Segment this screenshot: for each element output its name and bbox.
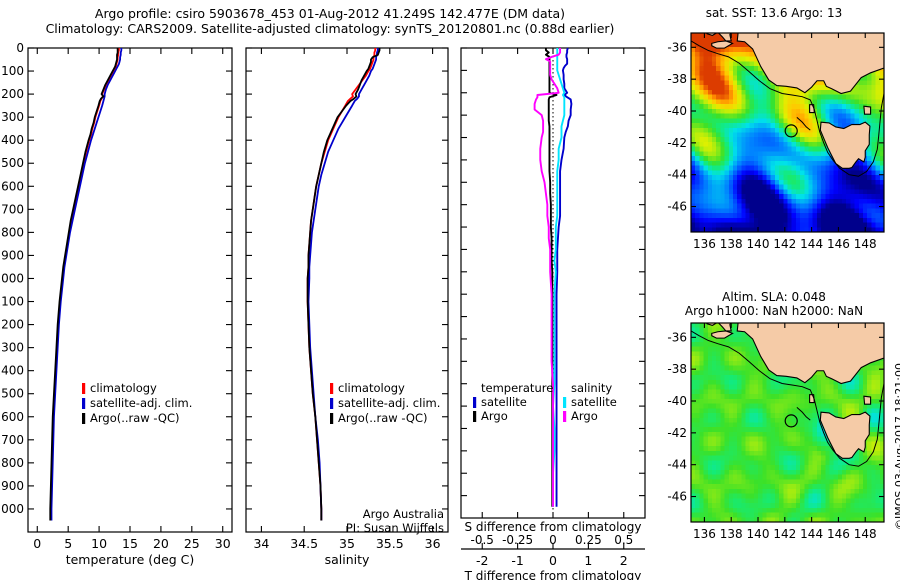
map-cell [746,156,751,161]
map-cell [767,90,772,95]
map-cell [800,470,805,475]
map-cell [850,99,855,104]
map-cell [758,494,763,499]
map-cell [813,213,818,218]
map-cell [767,413,772,418]
map-cell [779,95,784,100]
map-cell [754,475,759,480]
map-cell [704,446,709,451]
map-cell [846,104,851,109]
map-cell [741,208,746,213]
map-cell [834,118,839,123]
map-cell [850,479,855,484]
map-cell [771,194,776,199]
map-cell [842,479,847,484]
map-cell [737,380,742,385]
map-cell [712,147,717,152]
map-cell [821,394,826,399]
x-axis-label: salinity [325,552,370,567]
map-cell [871,427,876,432]
map-cell [729,389,734,394]
map-cell [863,498,868,503]
map-cell [691,351,696,356]
y-tick-label: 900 [1,248,24,262]
map-cell [754,80,759,85]
map-cell [737,66,742,71]
map-cell [863,95,868,100]
map-cell [737,389,742,394]
map-cell [720,370,725,375]
map-cell [746,437,751,442]
map-cell [695,71,700,76]
map-cell [808,161,813,166]
map-cell [838,213,843,218]
map-cell [741,451,746,456]
map-cell [704,332,709,337]
map-cell [771,470,776,475]
map-cell [792,503,797,508]
map-cell [829,199,834,204]
map-cell [825,489,830,494]
map-cell [779,418,784,423]
map-cell [855,394,860,399]
map-cell [855,489,860,494]
map-cell [813,385,818,390]
map-cell [767,151,772,156]
map-cell [796,489,801,494]
map-cell [871,76,876,81]
y-tick-label: 600 [1,179,24,193]
map-cell [704,194,709,199]
map-cell [859,114,864,119]
map-cell [750,413,755,418]
map-cell [817,223,822,228]
map-cell [712,118,717,123]
map-cell [775,446,780,451]
map-cell [762,441,767,446]
salinity-panel: 3434.53535.536salinityclimatologysatelli… [240,40,455,580]
y-tick-label: 800 [1,225,24,239]
map-cell [720,460,725,465]
map-cell [779,185,784,190]
map-cell [750,95,755,100]
map-cell [838,475,843,480]
map-cell [737,423,742,428]
map-cell [855,223,860,228]
map-cell [779,175,784,180]
map-cell [704,427,709,432]
map-cell [771,446,776,451]
t-tick-label: 0 [549,553,557,568]
map-cell [834,218,839,223]
map-cell [850,408,855,413]
map-cell [771,156,776,161]
map-cell [758,147,763,152]
map-cell [771,503,776,508]
map-cell [720,351,725,356]
map-cell [829,118,834,123]
map-cell [691,95,696,100]
difference-panel: temperaturesatelliteArgosalinitysatellit… [455,40,660,580]
map-cell [741,475,746,480]
map-cell [708,342,713,347]
map-cell [855,460,860,465]
map-cell [720,90,725,95]
map-cell [691,441,696,446]
map-cell [691,423,696,428]
map-cell [720,489,725,494]
t-axis-label: T difference from climatology [464,569,642,580]
map-cell [708,508,713,513]
map-cell [863,489,868,494]
map-cell [767,427,772,432]
map-cell [733,427,738,432]
map-cell [733,475,738,480]
map-cell [746,479,751,484]
map-cell [859,199,864,204]
map-cell [737,223,742,228]
map-cell [771,161,776,166]
map-cell [750,104,755,109]
map-cell [691,223,696,228]
map-cell [762,437,767,442]
map-cell [695,175,700,180]
map-cell [737,95,742,100]
map-cell [699,356,704,361]
map-cell [712,80,717,85]
map-cell [741,170,746,175]
map-cell [783,460,788,465]
map-cell [821,484,826,489]
map-cell [708,223,713,228]
map-cell [741,484,746,489]
map-cell [867,375,872,380]
map-cell [716,142,721,147]
map-cell [725,451,730,456]
map-cell [704,66,709,71]
map-cell [750,432,755,437]
map-cell [758,508,763,513]
map-cell [712,427,717,432]
map-cell [704,42,709,47]
map-cell [725,109,730,114]
map-cell [691,147,696,152]
map-cell [767,223,772,228]
map-cell [758,156,763,161]
map-cell [699,432,704,437]
map-cell [712,432,717,437]
map-cell [867,408,872,413]
map-cell [792,128,797,133]
map-cell [813,147,818,152]
map-cell [788,194,793,199]
map-cell [863,475,868,480]
map-cell [825,218,830,223]
map-cell [775,218,780,223]
map-cell [829,99,834,104]
map-cell [783,503,788,508]
map-cell [804,470,809,475]
map-cell [871,489,876,494]
map-cell [800,204,805,209]
map-cell [716,347,721,352]
map-cell [741,57,746,62]
map-cell [733,137,738,142]
map-cell [792,380,797,385]
map-cell [850,399,855,404]
map-cell [855,508,860,513]
map-cell [737,175,742,180]
map-cell [758,380,763,385]
map-cell [733,33,738,38]
map-cell [712,189,717,194]
map-cell [729,147,734,152]
lat-tick-label: -36 [667,330,687,344]
sst-map-title: sat. SST: 13.6 Argo: 13 [660,6,888,20]
map-cell [762,498,767,503]
map-cell [695,456,700,461]
map-cell [720,180,725,185]
map-cell [788,156,793,161]
map-cell [704,399,709,404]
map-cell [796,151,801,156]
map-cell [746,137,751,142]
map-cell [750,194,755,199]
map-cell [716,180,721,185]
map-cell [720,451,725,456]
map-cell [817,446,822,451]
map-cell [741,175,746,180]
map-cell [842,489,847,494]
map-cell [800,399,805,404]
map-cell [842,218,847,223]
map-cell [708,114,713,119]
map-cell [821,508,826,513]
map-cell [741,42,746,47]
map-cell [737,489,742,494]
map-cell [792,484,797,489]
map-cell [804,104,809,109]
map-cell [733,95,738,100]
map-cell [804,175,809,180]
map-cell [704,351,709,356]
map-cell [767,470,772,475]
map-cell [796,513,801,518]
map-cell [699,404,704,409]
map-cell [699,456,704,461]
map-cell [737,441,742,446]
map-cell [775,451,780,456]
map-cell [859,189,864,194]
map-cell [846,498,851,503]
map-cell [871,218,876,223]
map-cell [771,456,776,461]
map-cell [729,385,734,390]
map-cell [792,498,797,503]
map-cell [758,194,763,199]
map-cell [754,375,759,380]
map-cell [796,446,801,451]
map-cell [691,470,696,475]
map-cell [846,385,851,390]
map-cell [842,213,847,218]
map-cell [863,375,868,380]
map-cell [813,456,818,461]
map-cell [720,456,725,461]
map-cell [720,175,725,180]
lat-tick-label: -44 [667,458,687,472]
map-cell [808,137,813,142]
t-tick-label: -2 [476,553,488,568]
map-cell [754,460,759,465]
map-cell [716,494,721,499]
map-cell [783,194,788,199]
map-cell [779,218,784,223]
map-cell [741,332,746,337]
lat-tick-label: -40 [667,394,687,408]
map-cell [695,85,700,90]
map-cell [695,475,700,480]
map-cell [691,189,696,194]
map-cell [716,194,721,199]
map-cell [691,375,696,380]
map-cell [855,99,860,104]
map-cell [758,133,763,138]
map-cell [855,90,860,95]
map-cell [699,104,704,109]
map-cell [813,95,818,100]
map-cell [737,408,742,413]
map-cell [859,375,864,380]
map-cell [767,489,772,494]
map-cell [779,385,784,390]
map-cell [779,427,784,432]
map-cell [808,142,813,147]
map-cell [800,465,805,470]
map-cell [737,460,742,465]
map-cell [729,85,734,90]
map-cell [855,375,860,380]
map-cell [817,180,822,185]
map-cell [855,470,860,475]
map-cell [746,76,751,81]
map-cell [821,451,826,456]
legend-group-label: temperature [481,381,553,395]
map-cell [762,147,767,152]
map-cell [750,114,755,119]
map-cell [829,451,834,456]
map-cell [758,418,763,423]
map-cell [829,204,834,209]
map-cell [720,475,725,480]
map-cell [767,479,772,484]
map-cell [746,475,751,480]
map-cell [750,475,755,480]
map-cell [754,394,759,399]
map-cell [771,451,776,456]
map-cell [746,85,751,90]
map-cell [788,147,793,152]
map-cell [804,118,809,123]
map-cell [758,385,763,390]
map-cell [712,142,717,147]
map-cell [817,175,822,180]
map-cell [762,170,767,175]
map-cell [712,356,717,361]
map-cell [863,508,868,513]
map-cell [876,114,881,119]
map-cell [817,151,822,156]
map-cell [767,423,772,428]
map-cell [829,380,834,385]
map-cell [699,109,704,114]
map-cell [729,161,734,166]
map-cell [750,498,755,503]
map-cell [729,175,734,180]
map-cell [737,470,742,475]
map-cell [779,208,784,213]
map-cell [800,170,805,175]
map-cell [838,208,843,213]
map-cell [746,503,751,508]
map-cell [804,151,809,156]
map-cell [746,494,751,499]
map-cell [729,166,734,171]
map-cell [733,109,738,114]
map-cell [699,128,704,133]
map-cell [813,128,818,133]
map-cell [720,399,725,404]
map-cell [846,479,851,484]
map-cell [783,408,788,413]
map-cell [695,508,700,513]
map-cell [695,99,700,104]
map-cell [783,199,788,204]
map-cell [859,513,864,518]
map-cell [779,223,784,228]
map-cell [720,479,725,484]
map-cell [775,170,780,175]
map-cell [871,204,876,209]
map-cell [699,114,704,119]
map-cell [754,465,759,470]
map-cell [708,199,713,204]
map-cell [725,76,730,81]
map-cell [846,204,851,209]
map-cell [863,494,868,499]
map-cell [720,385,725,390]
map-cell [720,208,725,213]
map-cell [708,71,713,76]
map-cell [699,427,704,432]
map-cell [716,361,721,366]
map-cell [796,451,801,456]
map-cell [725,385,730,390]
map-cell [712,109,717,114]
map-cell [762,204,767,209]
x-tick-label: 30 [215,536,231,551]
map-cell [825,185,830,190]
map-cell [750,66,755,71]
map-cell [859,95,864,100]
map-cell [737,394,742,399]
map-cell [817,498,822,503]
map-cell [716,147,721,152]
map-cell [729,61,734,66]
map-cell [813,513,818,518]
map-cell [691,218,696,223]
map-cell [779,489,784,494]
